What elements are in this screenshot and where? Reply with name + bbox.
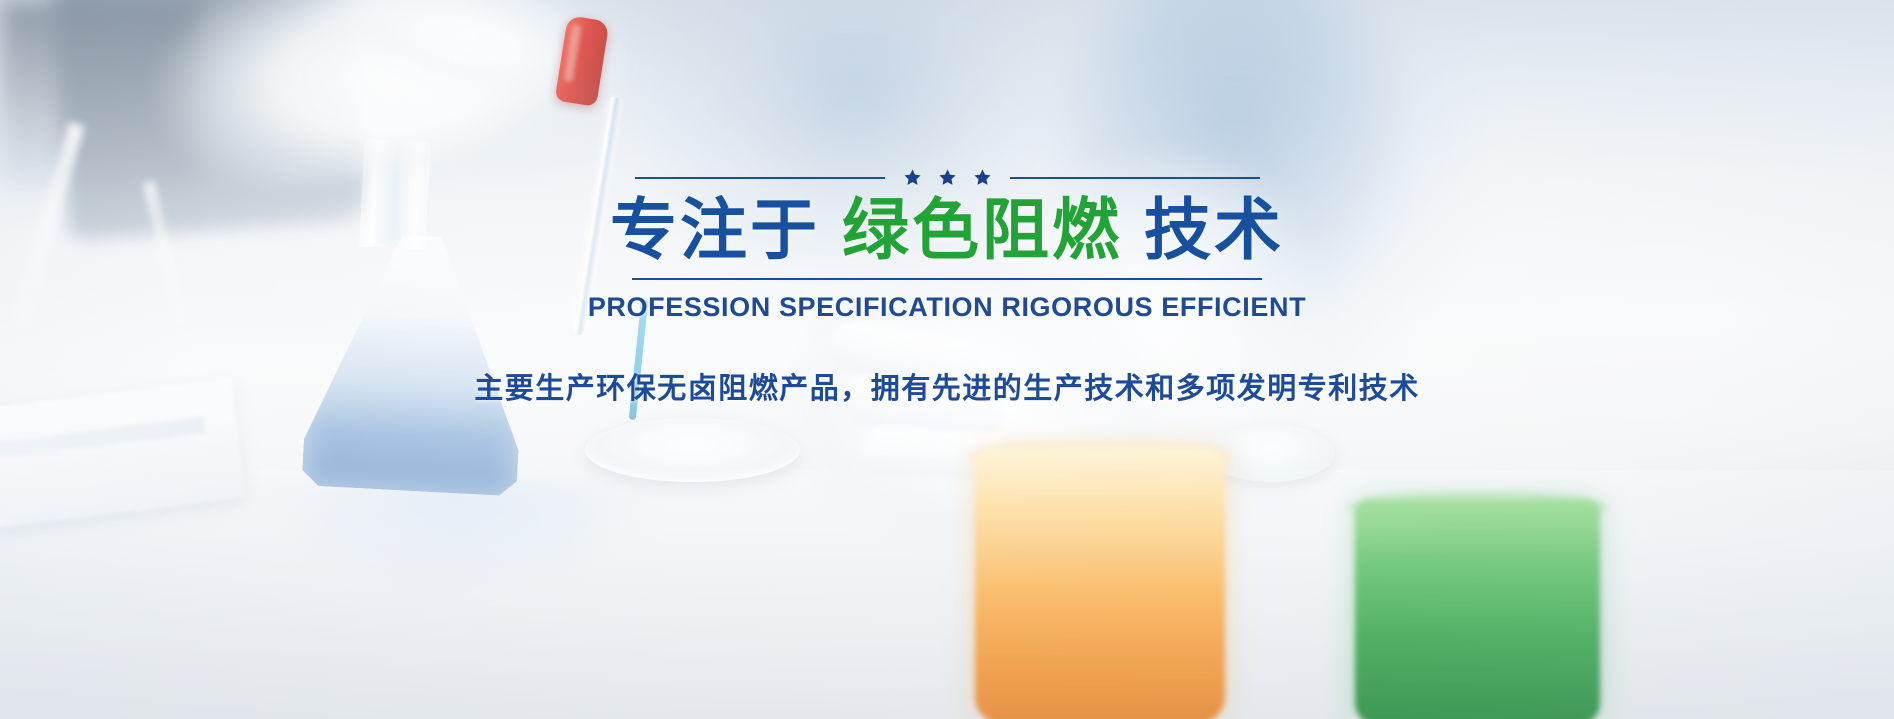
banner-headline: 专注于绿色阻燃技术 xyxy=(610,193,1284,268)
banner-content: 专注于绿色阻燃技术 PROFESSION SPECIFICATION RIGOR… xyxy=(0,0,1894,719)
divider-rule-right xyxy=(1010,177,1260,179)
star-icon xyxy=(938,168,957,187)
divider-rule-left xyxy=(635,177,885,179)
banner-subtitle-english: PROFESSION SPECIFICATION RIGOROUS EFFICI… xyxy=(588,292,1306,323)
headline-part-3: 技术 xyxy=(1144,193,1284,268)
headline-part-1: 专注于 xyxy=(610,193,820,268)
headline-part-2: 绿色阻燃 xyxy=(842,193,1122,268)
banner-tagline-chinese: 主要生产环保无卤阻燃产品，拥有先进的生产技术和多项发明专利技术 xyxy=(474,365,1420,407)
star-divider xyxy=(632,168,1262,187)
star-group xyxy=(885,168,1010,187)
star-icon xyxy=(973,168,992,187)
headline-underline xyxy=(632,278,1262,280)
hero-banner: 专注于绿色阻燃技术 PROFESSION SPECIFICATION RIGOR… xyxy=(0,0,1894,719)
star-icon xyxy=(903,168,922,187)
